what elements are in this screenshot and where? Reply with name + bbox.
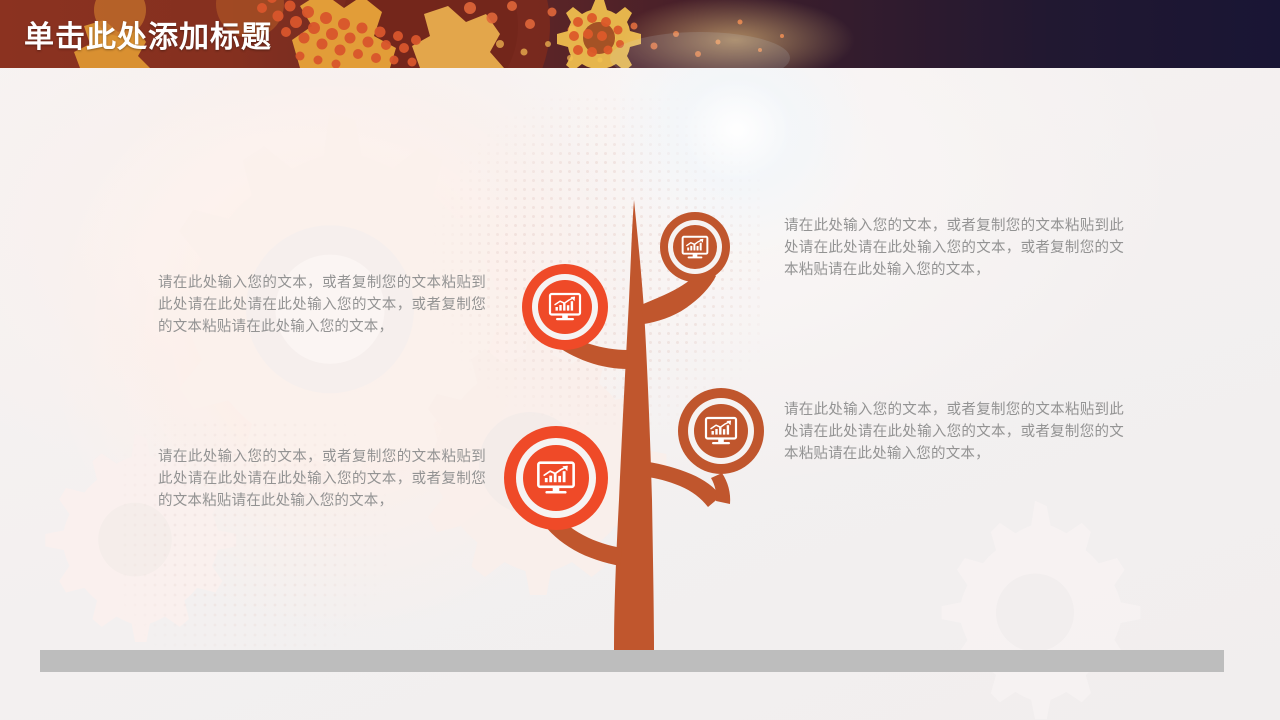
monitor-chart-icon (548, 292, 582, 322)
text-block-left-upper: 请在此处输入您的文本，或者复制您的文本粘贴到此处请在此处请在此处输入您的文本，或… (158, 272, 486, 338)
monitor-chart-icon (704, 416, 738, 446)
node-right-upper[interactable] (660, 212, 730, 282)
node-right-lower[interactable] (678, 388, 764, 474)
banner-bottom-edge (0, 61, 1280, 68)
footer-bar (40, 650, 1224, 672)
text-block-right-upper: 请在此处输入您的文本，或者复制您的文本粘贴到此处请在此处请在此处输入您的文本，或… (784, 215, 1124, 281)
node-left-upper-core (538, 280, 592, 334)
node-left-upper[interactable] (522, 264, 608, 350)
text-block-right-lower: 请在此处输入您的文本，或者复制您的文本粘贴到此处请在此处请在此处输入您的文本，或… (784, 399, 1124, 465)
slide-title: 单击此处添加标题 (24, 12, 272, 56)
text-block-left-lower: 请在此处输入您的文本，或者复制您的文本粘贴到此处请在此处请在此处输入您的文本，或… (158, 446, 486, 512)
node-right-upper-core (673, 225, 717, 269)
node-right-lower-core (694, 404, 748, 458)
monitor-chart-icon (536, 460, 576, 496)
node-left-lower[interactable] (504, 426, 608, 530)
monitor-chart-icon (681, 235, 709, 260)
slide-header-banner: 单击此处添加标题 (0, 0, 1280, 68)
slide-canvas: 单击此处添加标题 (0, 0, 1280, 720)
node-left-lower-core (523, 445, 589, 511)
